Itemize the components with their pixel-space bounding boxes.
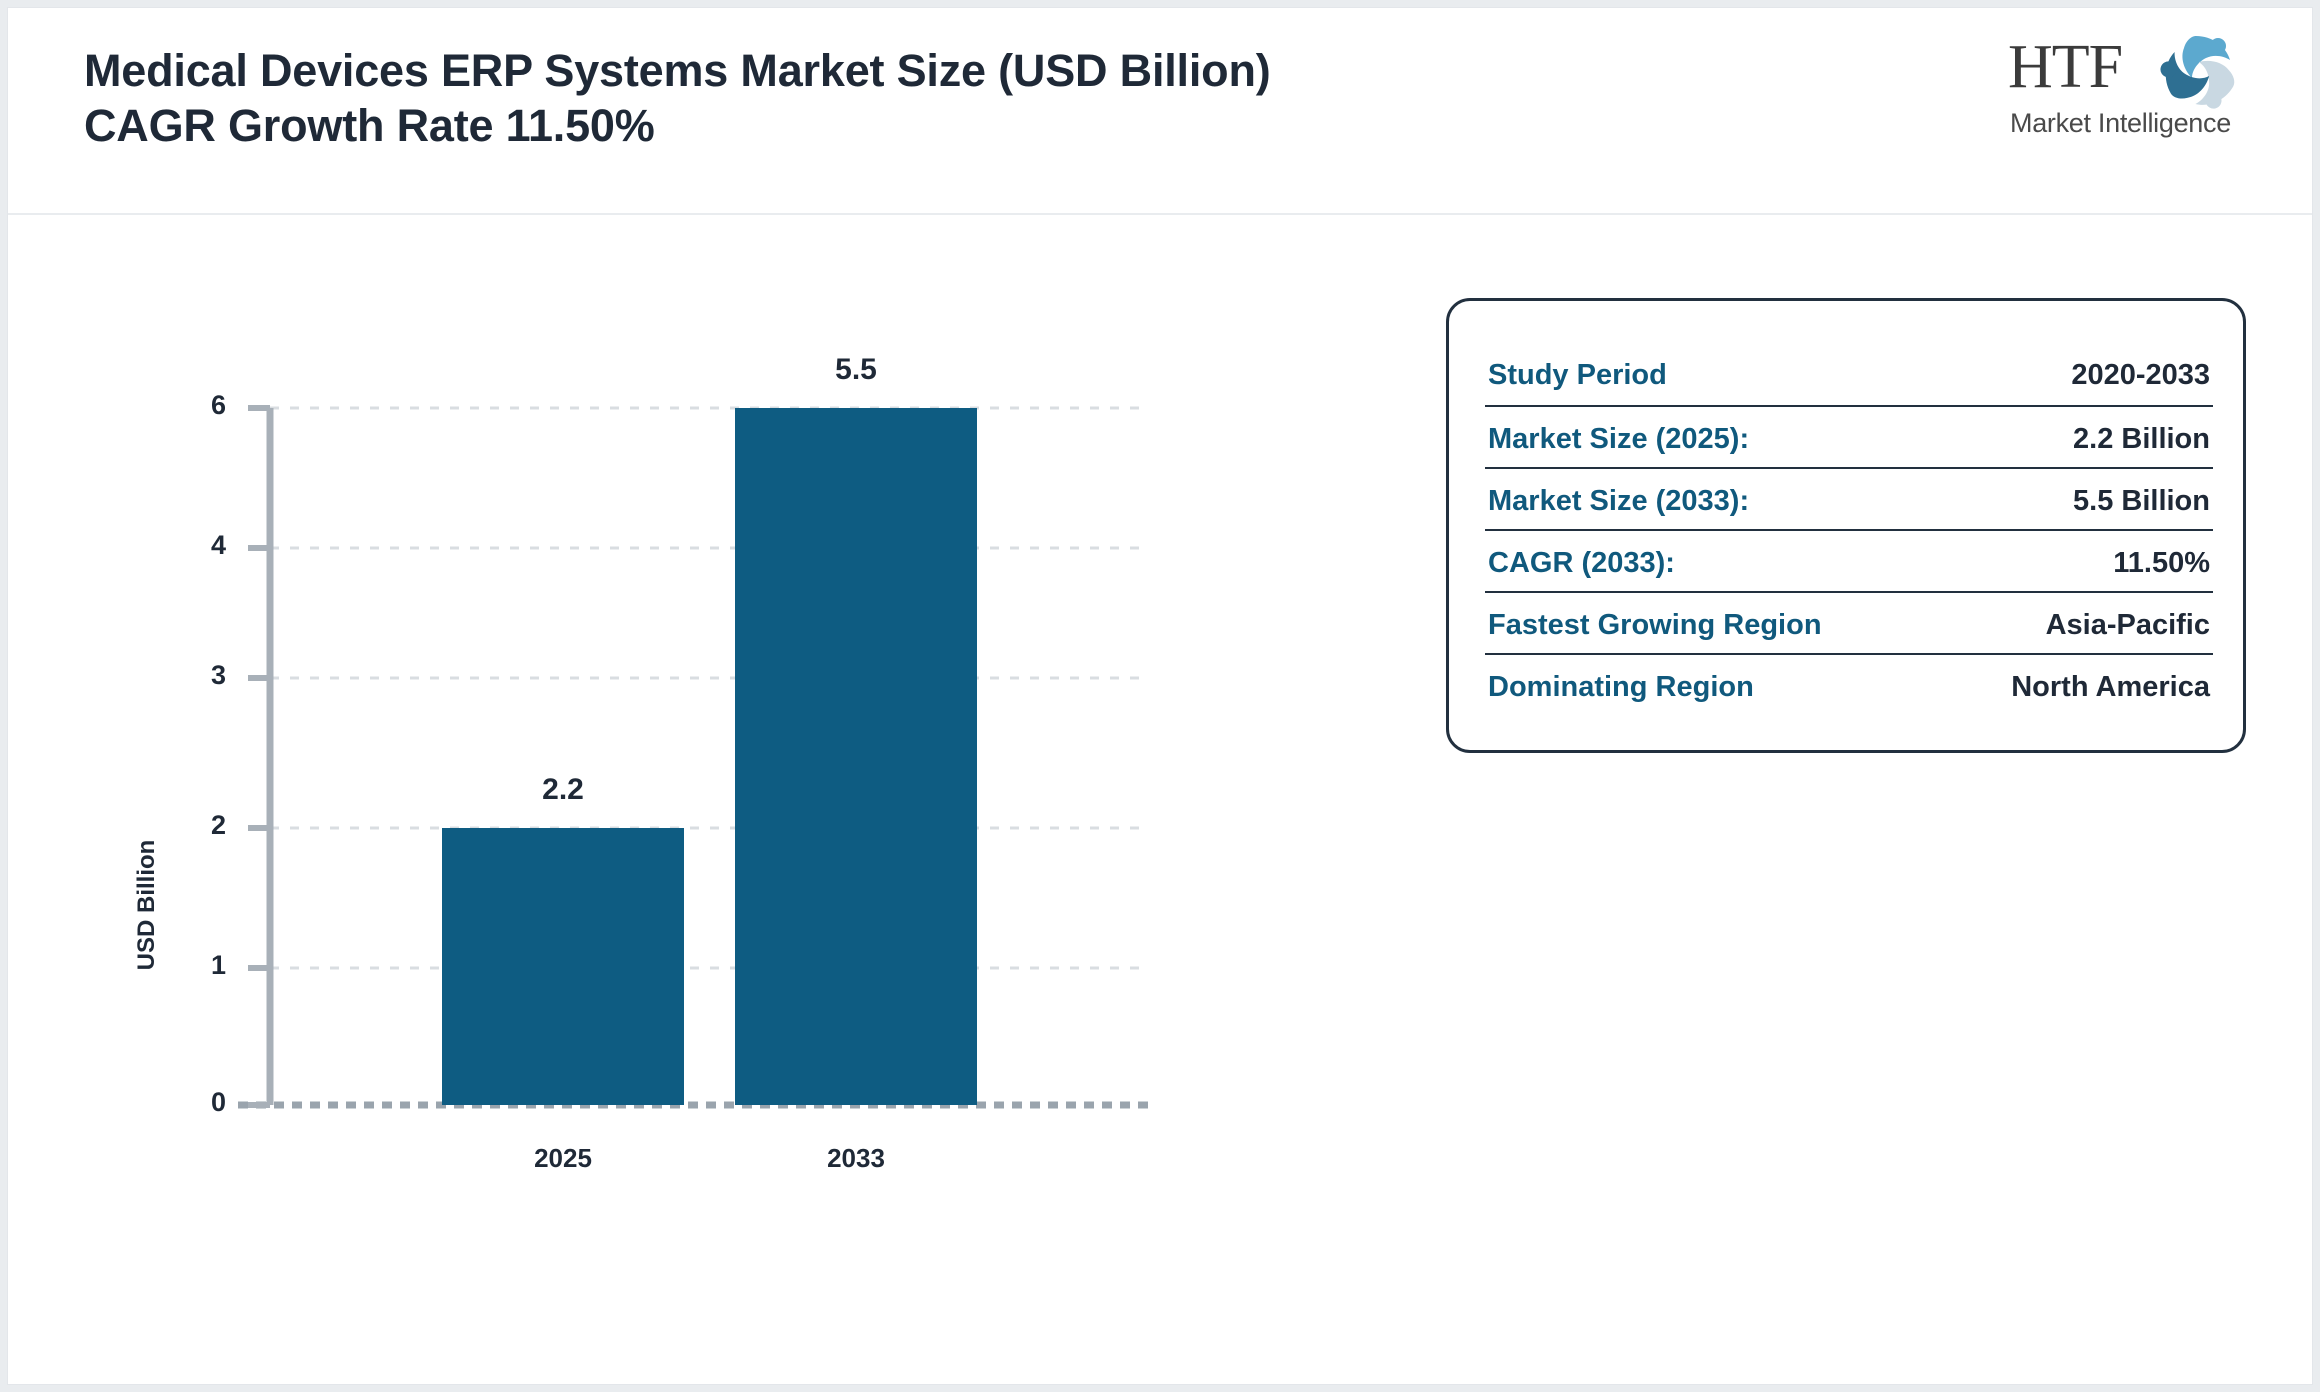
y-tick-label-2: 2: [186, 810, 226, 841]
summary-label: Market Size (2025):: [1488, 407, 1749, 456]
bar-2033: [735, 408, 977, 1105]
summary-row-study-period: Study Period 2020-2033: [1485, 343, 2213, 405]
summary-row-dominating-region: Dominating Region North America: [1485, 653, 2213, 715]
summary-row-cagr: CAGR (2033): 11.50%: [1485, 529, 2213, 591]
summary-value: 5.5 Billion: [2073, 469, 2210, 518]
summary-value: 11.50%: [2113, 531, 2210, 580]
summary-row-market-size-2025: Market Size (2025): 2.2 Billion: [1485, 405, 2213, 467]
summary-row-fastest-growing-region: Fastest Growing Region Asia-Pacific: [1485, 591, 2213, 653]
y-axis-title: USD Billion: [133, 775, 161, 1035]
x-tick-label-2033: 2033: [726, 1143, 986, 1174]
bar-2025: [442, 828, 684, 1105]
x-tick-label-2025: 2025: [433, 1143, 693, 1174]
y-tick-label-0: 0: [186, 1087, 226, 1118]
y-tick-label-4: 4: [186, 530, 226, 561]
logo-wordmark: HTF: [2008, 36, 2122, 98]
bar-value-2025: 2.2: [433, 773, 693, 807]
summary-label: Dominating Region: [1488, 655, 1754, 704]
bar-value-2033: 5.5: [726, 353, 986, 387]
y-tick-label-6: 6: [186, 390, 226, 421]
summary-value: North America: [2011, 655, 2210, 704]
y-tick-label-3: 3: [186, 660, 226, 691]
content-card: Medical Devices ERP Systems Market Size …: [7, 7, 2313, 1385]
header: Medical Devices ERP Systems Market Size …: [8, 8, 2312, 215]
y-tick-label-1: 1: [186, 950, 226, 981]
bar-chart: USD Billion 6 4 3 2 1 0 2.2 5.5 2025 203…: [8, 215, 1428, 1386]
page-title: Medical Devices ERP Systems Market Size …: [84, 44, 1414, 154]
summary-label: Study Period: [1488, 343, 1667, 392]
summary-value: 2020-2033: [2071, 343, 2210, 392]
summary-label: Fastest Growing Region: [1488, 593, 1822, 642]
summary-label: Market Size (2033):: [1488, 469, 1749, 518]
gridlines: [270, 408, 1148, 968]
logo-mark: HTF Market Intelligence: [2002, 30, 2262, 148]
logo-emblem-icon: [2140, 32, 2260, 116]
infographic-page: Medical Devices ERP Systems Market Size …: [0, 0, 2320, 1392]
summary-rows: Study Period 2020-2033 Market Size (2025…: [1485, 343, 2213, 715]
brand-logo: HTF Market Intelligence: [2002, 30, 2262, 148]
summary-value: Asia-Pacific: [2046, 593, 2210, 642]
market-summary-panel: Study Period 2020-2033 Market Size (2025…: [1446, 298, 2246, 753]
summary-value: 2.2 Billion: [2073, 407, 2210, 456]
summary-label: CAGR (2033):: [1488, 531, 1675, 580]
summary-row-market-size-2033: Market Size (2033): 5.5 Billion: [1485, 467, 2213, 529]
